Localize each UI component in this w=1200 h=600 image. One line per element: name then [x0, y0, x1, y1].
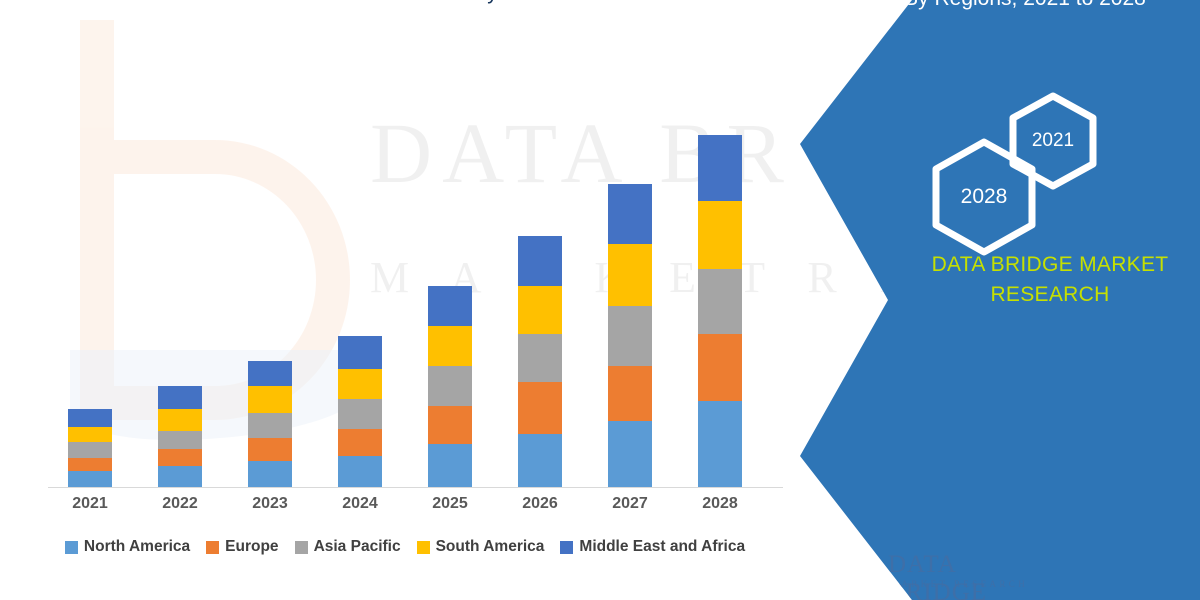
x-axis-line: [48, 487, 783, 488]
bar-stack-2022[interactable]: [158, 386, 202, 487]
panel-title: By Regions, 2021 to 2028: [860, 0, 1190, 14]
hexagon-badge-2021: 2021: [1008, 92, 1098, 190]
bar-segment[interactable]: [248, 438, 292, 461]
legend-swatch-icon: [65, 541, 78, 554]
bar-segment[interactable]: [338, 456, 382, 487]
footer-logo-subtext: MARKET RESEARCH: [890, 579, 1028, 589]
bar-segment[interactable]: [158, 431, 202, 449]
x-axis-label-2025: 2025: [405, 495, 495, 513]
legend-item[interactable]: Middle East and Africa: [560, 538, 745, 556]
legend-label: Asia Pacific: [314, 538, 401, 556]
chart-legend: North AmericaEuropeAsia PacificSouth Ame…: [0, 538, 810, 556]
footer-logo: DATA BRIDGE MARKET RESEARCH: [830, 545, 1060, 600]
bar-segment[interactable]: [698, 269, 742, 334]
x-axis-label-2028: 2028: [675, 495, 765, 513]
bar-segment[interactable]: [608, 244, 652, 306]
bar-segment[interactable]: [158, 449, 202, 466]
bar-segment[interactable]: [698, 334, 742, 401]
bar-segment[interactable]: [248, 413, 292, 438]
bar-segment[interactable]: [68, 427, 112, 442]
bar-stack-2028[interactable]: [698, 135, 742, 487]
bar-stack-2024[interactable]: [338, 336, 382, 487]
bar-stack-2023[interactable]: [248, 361, 292, 487]
stacked-bar-chart: 20212022202320242025202620272028 North A…: [0, 0, 810, 600]
x-axis-label-2027: 2027: [585, 495, 675, 513]
bar-segment[interactable]: [68, 442, 112, 458]
bar-segment[interactable]: [518, 434, 562, 487]
bar-segment[interactable]: [338, 336, 382, 369]
legend-label: Europe: [225, 538, 278, 556]
bar-segment[interactable]: [608, 421, 652, 487]
legend-item[interactable]: North America: [65, 538, 190, 556]
chart-infographic: DATA BR M A R K E T R E S E USD XX Billi…: [0, 0, 1200, 600]
legend-item[interactable]: Asia Pacific: [295, 538, 401, 556]
bar-segment[interactable]: [518, 236, 562, 286]
legend-item[interactable]: Europe: [206, 538, 278, 556]
brand-name: DATA BRIDGE MARKET RESEARCH: [905, 250, 1195, 310]
bar-stack-2027[interactable]: [608, 184, 652, 487]
legend-label: North America: [84, 538, 190, 556]
bar-stack-2025[interactable]: [428, 286, 472, 487]
bar-segment[interactable]: [338, 429, 382, 456]
bar-segment[interactable]: [68, 471, 112, 487]
bar-segment[interactable]: [608, 184, 652, 244]
bar-segment[interactable]: [68, 458, 112, 471]
bar-segment[interactable]: [158, 409, 202, 431]
x-axis-label-2021: 2021: [45, 495, 135, 513]
bridge-logo-icon: [830, 549, 882, 597]
bar-segment[interactable]: [338, 399, 382, 429]
legend-swatch-icon: [560, 541, 573, 554]
bar-segment[interactable]: [428, 406, 472, 444]
x-axis-label-2023: 2023: [225, 495, 315, 513]
bar-segment[interactable]: [698, 201, 742, 269]
right-info-panel: By Regions, 2021 to 2028 2028 2021 DATA …: [800, 0, 1200, 600]
legend-item[interactable]: South America: [417, 538, 545, 556]
bar-segment[interactable]: [518, 334, 562, 382]
bar-segment[interactable]: [518, 382, 562, 434]
legend-label: Middle East and Africa: [579, 538, 745, 556]
bar-segment[interactable]: [338, 369, 382, 399]
bar-segment[interactable]: [608, 306, 652, 366]
bar-segment[interactable]: [248, 461, 292, 487]
x-axis-label-2024: 2024: [315, 495, 405, 513]
x-axis-label-2026: 2026: [495, 495, 585, 513]
bar-stack-2021[interactable]: [68, 409, 112, 487]
bar-segment[interactable]: [698, 135, 742, 201]
x-axis-label-2022: 2022: [135, 495, 225, 513]
bar-stack-2026[interactable]: [518, 236, 562, 487]
legend-label: South America: [436, 538, 545, 556]
bar-segment[interactable]: [248, 386, 292, 413]
bar-segment[interactable]: [428, 326, 472, 366]
bar-segment[interactable]: [248, 361, 292, 386]
legend-swatch-icon: [417, 541, 430, 554]
bar-segment[interactable]: [158, 386, 202, 409]
bar-segment[interactable]: [518, 286, 562, 334]
bar-segment[interactable]: [68, 409, 112, 427]
bar-segment[interactable]: [428, 286, 472, 326]
hexagon-badge-2028-label: 2028: [961, 185, 1008, 209]
hexagon-badge-2021-label: 2021: [1032, 130, 1074, 152]
bar-segment[interactable]: [158, 466, 202, 487]
bar-segment[interactable]: [698, 401, 742, 487]
bar-segment[interactable]: [428, 366, 472, 406]
bar-segment[interactable]: [608, 366, 652, 421]
legend-swatch-icon: [295, 541, 308, 554]
legend-swatch-icon: [206, 541, 219, 554]
x-axis-labels: 20212022202320242025202620272028: [0, 495, 810, 521]
bar-segment[interactable]: [428, 444, 472, 487]
footer-logo-text: DATA BRIDGE: [888, 551, 1060, 600]
